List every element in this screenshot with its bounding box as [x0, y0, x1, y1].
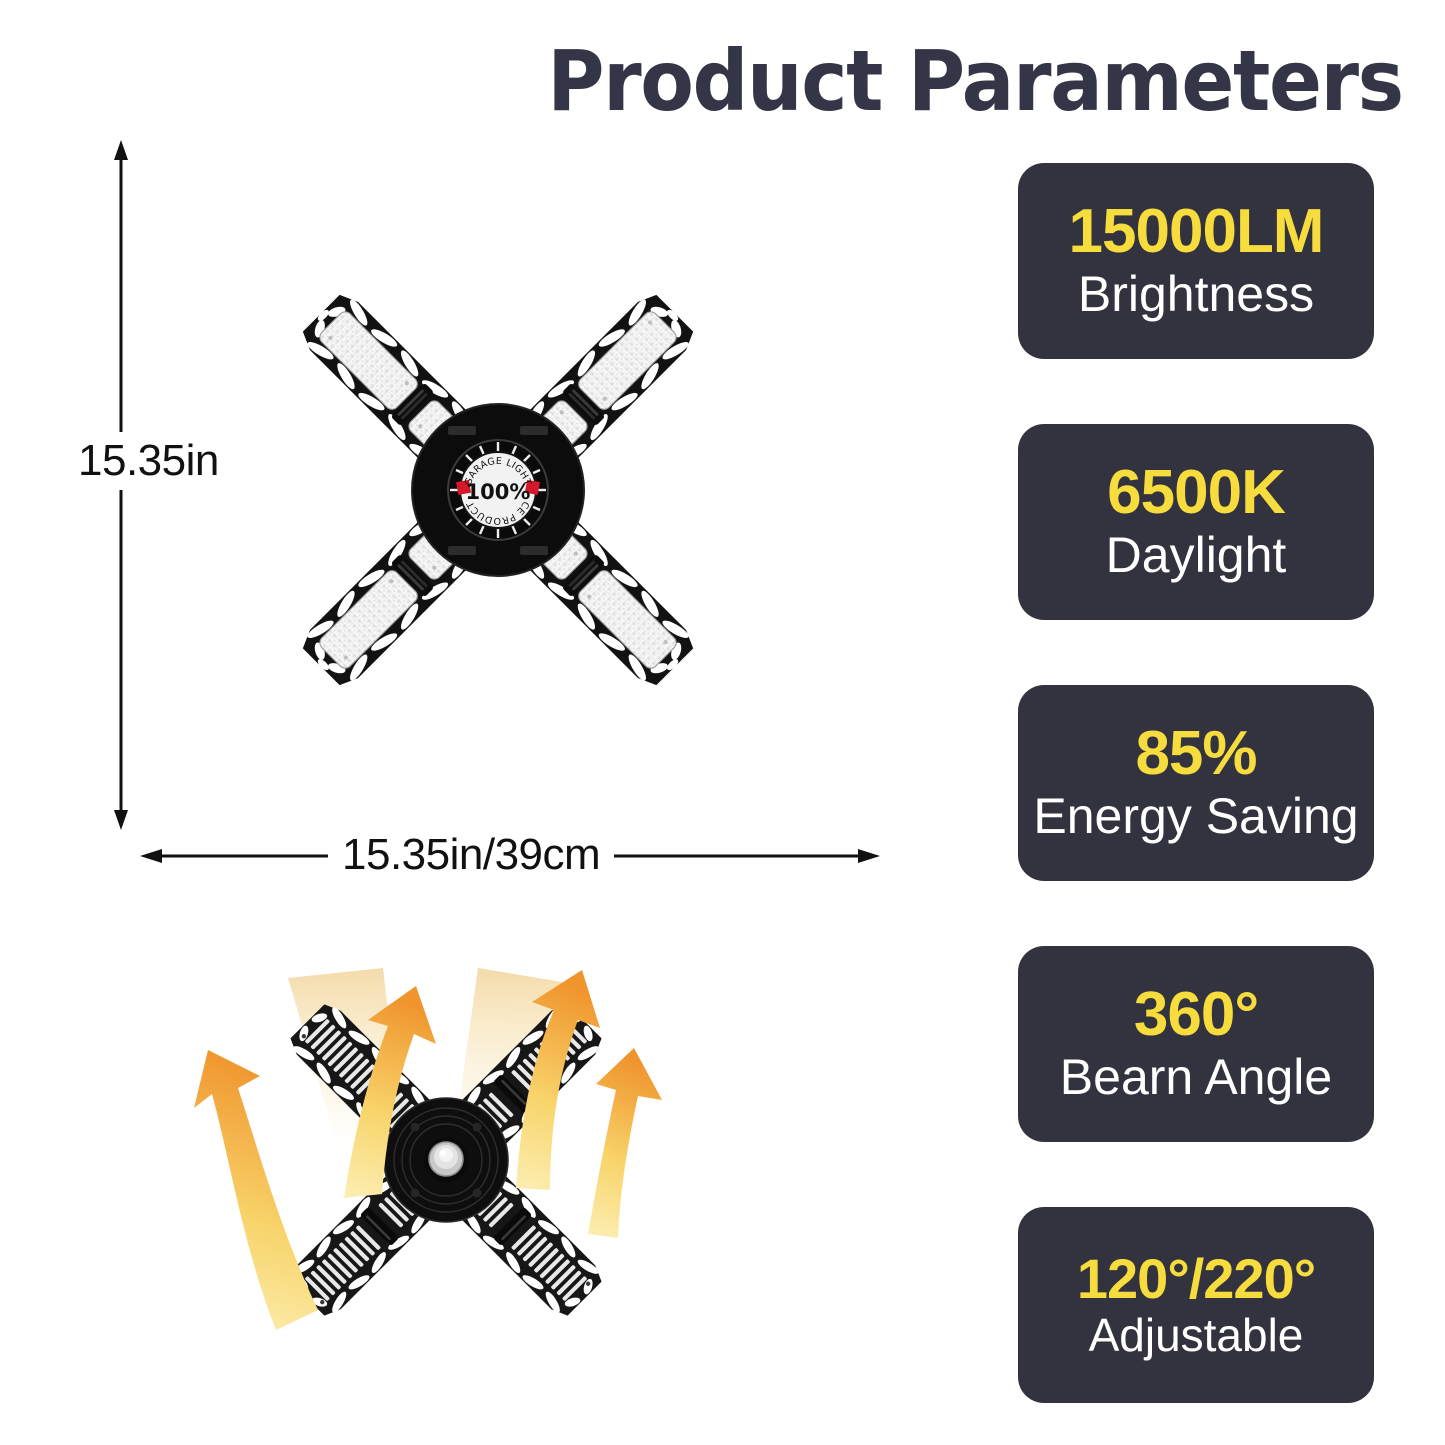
spec-value: 85%	[1135, 722, 1256, 786]
spec-card-list: 15000LM Brightness 6500K Daylight 85% En…	[1018, 163, 1374, 1403]
spec-label: Brightness	[1078, 267, 1314, 322]
spec-card-brightness[interactable]: 15000LM Brightness	[1018, 163, 1374, 359]
spec-label: Daylight	[1106, 528, 1287, 583]
fixture-back-svg	[168, 898, 728, 1373]
spec-label: Energy Saving	[1033, 789, 1358, 844]
dimension-height-label: 15.35in	[72, 432, 227, 490]
spec-label: Bearn Angle	[1060, 1050, 1332, 1105]
fixture-back-airflow-illustration	[168, 898, 728, 1373]
product-parameters-infographic: Product Parameters	[0, 0, 1445, 1445]
spec-card-energy-saving[interactable]: 85% Energy Saving	[1018, 685, 1374, 881]
fixture-front-svg: GARAGE LIGHT CE PRODUCT 100%	[148, 140, 848, 840]
dimension-width-label: 15.35in/39cm	[328, 828, 614, 882]
spec-value: 6500K	[1107, 461, 1285, 525]
curved-airflow-arrow-icon	[194, 1050, 318, 1330]
back-center-hub	[384, 1098, 508, 1222]
hub-badge-center-text: 100%	[466, 480, 531, 504]
page-title: Product Parameters	[589, 28, 1361, 133]
fixture-front-illustration: GARAGE LIGHT CE PRODUCT 100%	[148, 140, 848, 840]
spec-value: 15000LM	[1069, 200, 1324, 264]
spec-card-color-temperature[interactable]: 6500K Daylight	[1018, 424, 1374, 620]
spec-value: 360°	[1134, 983, 1258, 1047]
spec-label: Adjustable	[1089, 1310, 1304, 1361]
spec-value: 120°/220°	[1077, 1250, 1315, 1308]
curved-airflow-arrow-icon	[588, 1048, 662, 1238]
fixture-center-hub: GARAGE LIGHT CE PRODUCT 100%	[412, 404, 584, 576]
spec-card-adjustable-angle[interactable]: 120°/220° Adjustable	[1018, 1207, 1374, 1403]
spec-card-beam-angle[interactable]: 360° Bearn Angle	[1018, 946, 1374, 1142]
